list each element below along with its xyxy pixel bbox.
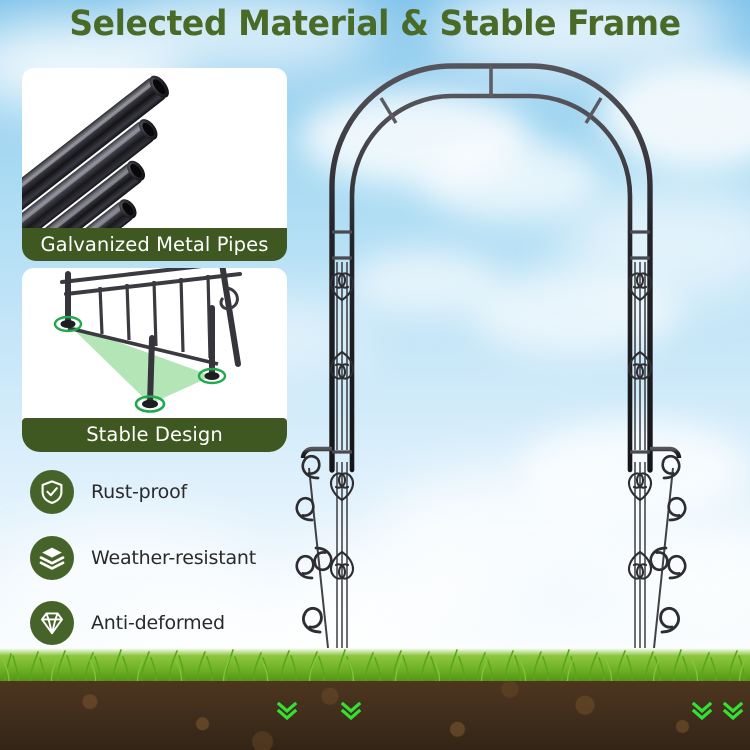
feature-label: Weather-resistant [91, 547, 256, 569]
arch-inner-rail [352, 96, 630, 470]
shield-check-icon [30, 470, 74, 514]
grass-blades [0, 640, 750, 686]
arch-right-leg [629, 262, 685, 700]
card-caption-stable-design: Stable Design [22, 418, 287, 452]
feature-label: Rust-proof [91, 481, 187, 503]
double-chevron-down-icon [276, 700, 298, 722]
stable-design-photo [22, 268, 287, 420]
page-title: Selected Material & Stable Frame [23, 2, 728, 46]
diamond-icon [30, 601, 74, 645]
card-galvanized-metal-pipes [22, 68, 287, 230]
soil-cross-section [0, 681, 750, 750]
feature-anti-deformed: Anti-deformed [30, 601, 225, 645]
leg-front [150, 338, 152, 404]
product-infographic-stage: Selected Material & Stable Frame [0, 0, 750, 750]
arch-left-leg [297, 262, 353, 700]
double-chevron-down-icon [691, 700, 713, 722]
layers-icon [30, 536, 74, 580]
double-chevron-down-icon [340, 700, 362, 722]
double-chevron-down-icon [722, 700, 744, 722]
card-stable-design [22, 268, 287, 420]
card-caption-galvanized-metal-pipes: Galvanized Metal Pipes [22, 228, 287, 261]
galvanized-pipes-photo [22, 68, 287, 230]
feature-weather-resistant: Weather-resistant [30, 536, 256, 580]
feature-rust-proof: Rust-proof [30, 470, 187, 514]
feature-label: Anti-deformed [91, 612, 225, 634]
